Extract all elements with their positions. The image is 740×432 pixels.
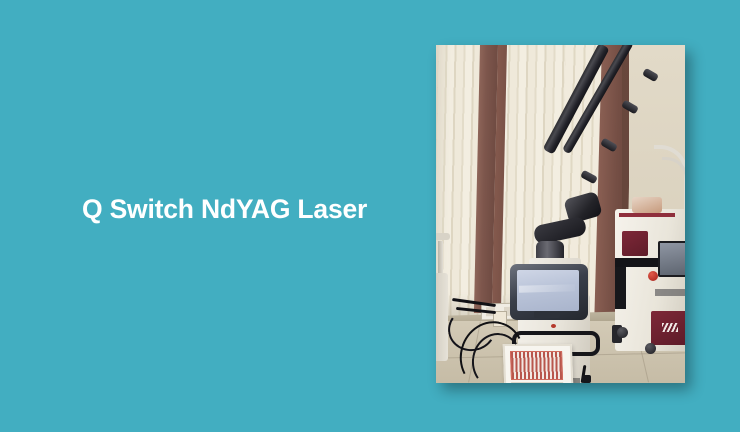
device-top-trim [619,213,675,217]
device-top-accessory [632,197,662,213]
title-block: Q Switch NdYAG Laser [82,193,382,226]
device-caster-wheel [645,343,656,354]
console-monitor-logo [534,311,560,318]
equipment-hose-secondary [662,157,685,210]
device-brand-label [655,289,685,296]
iv-pole-top [436,233,450,240]
cable-plug [582,375,591,383]
device-logo-mark [662,323,678,332]
screen-glare [519,284,575,292]
laser-machine-photo [436,45,685,383]
console-indicator-light [551,324,556,328]
chart-panel-white-section [511,382,564,383]
photo-frame [436,45,685,383]
device-caster-wheel [617,327,628,338]
left-equipment-partial [436,273,448,361]
device-display-screen [658,241,685,277]
page-title: Q Switch NdYAG Laser [82,193,382,226]
emergency-stop-button [648,271,658,281]
device-maroon-panel-upper [622,231,648,256]
slide-canvas: Q Switch NdYAG Laser [0,0,740,432]
device-black-side-panel [615,267,626,309]
